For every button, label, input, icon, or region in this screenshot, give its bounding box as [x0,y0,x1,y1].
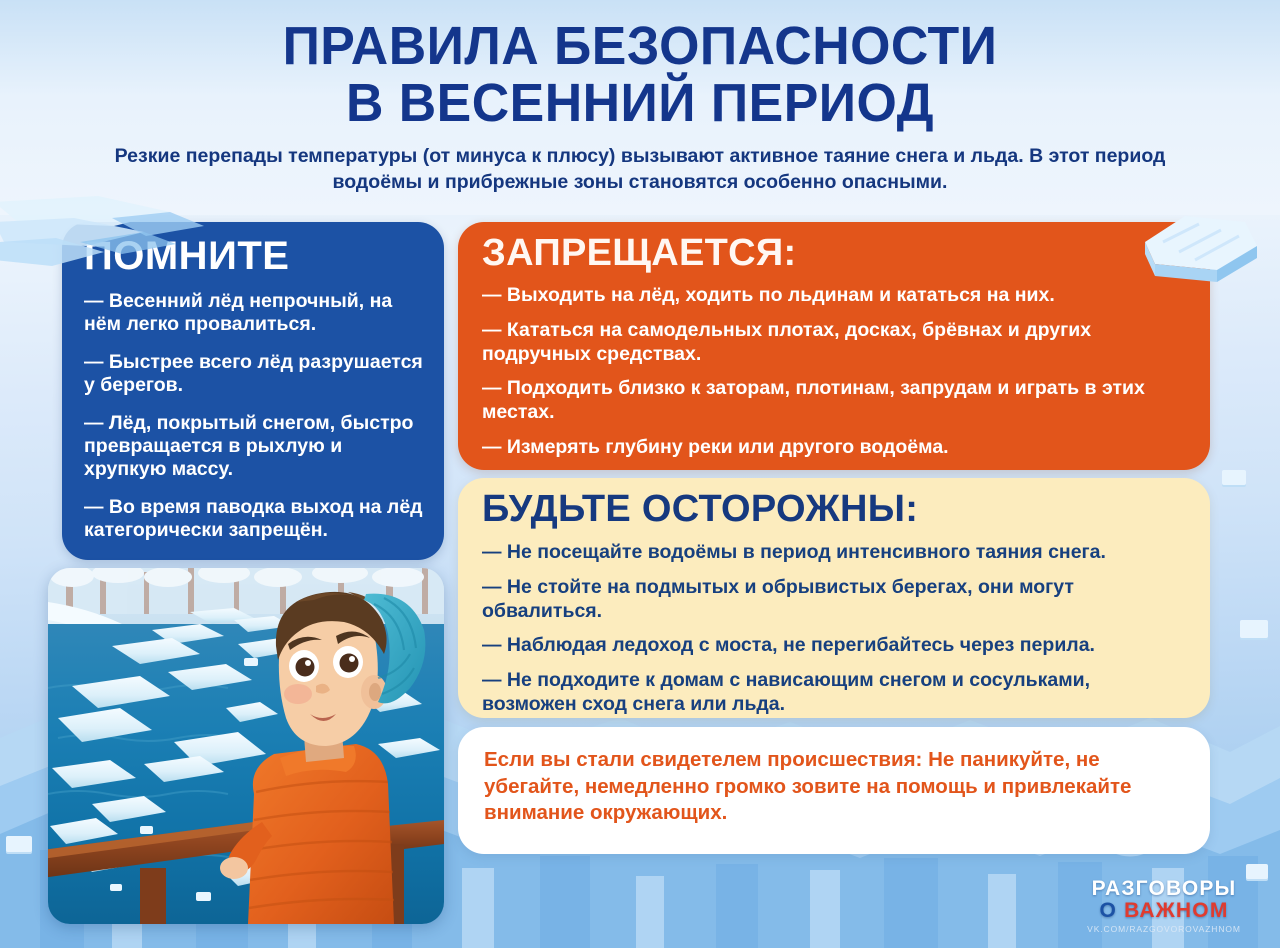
panel-remember-item: — Весенний лёд непрочный, на нём легко п… [84,290,424,337]
panel-remember-item: — Во время паводка выход на лёд категори… [84,496,424,543]
title-line-1: ПРАВИЛА БЕЗОПАСНОСТИ [26,18,1255,75]
panel-witness-text: Если вы стали свидетелем происшествия: Н… [484,747,1186,827]
poster-root: ПРАВИЛА БЕЗОПАСНОСТИ В ВЕСЕННИЙ ПЕРИОД Р… [0,0,1280,948]
panel-witness-notice: Если вы стали свидетелем происшествия: Н… [458,727,1210,854]
page-subtitle: Резкие перепады температуры (от минуса к… [75,144,1205,196]
panel-forbidden: ЗАПРЕЩАЕТСЯ: — Выходить на лёд, ходить п… [458,222,1210,470]
ice-chip [1246,864,1268,879]
panel-be-careful-item: — Не посещайте водоёмы в период интенсив… [482,541,1188,565]
panel-be-careful: БУДЬТЕ ОСТОРОЖНЫ: — Не посещайте водоёмы… [458,478,1210,718]
ice-chip [6,836,32,852]
panel-remember-item: — Быстрее всего лёд разрушается у берего… [84,351,424,398]
panel-forbidden-item: — Кататься на самодельных плотах, досках… [482,319,1188,367]
page-title: ПРАВИЛА БЕЗОПАСНОСТИ В ВЕСЕННИЙ ПЕРИОД [26,18,1255,132]
logo-line-2-rest: ВАЖНОМ [1124,899,1228,922]
panel-forbidden-item: — Выходить на лёд, ходить по льдинам и к… [482,284,1188,308]
panel-be-careful-heading: БУДЬТЕ ОСТОРОЖНЫ: [482,490,1188,528]
ice-chip [1222,470,1246,485]
logo-url: VK.COM/RAZGOVOROVAZHNOM [1070,924,1258,934]
panel-be-careful-item: — Не подходите к домам с нависающим снег… [482,669,1188,717]
panel-forbidden-item: — Подходить близко к заторам, плотинам, … [482,377,1188,425]
logo-line-2-o: О [1099,899,1117,922]
panel-remember: ПОМНИТЕ — Весенний лёд непрочный, на нём… [62,222,444,560]
logo-line-1: РАЗГОВОРЫ [1070,878,1258,899]
logo-line-2: О ВАЖНОМ [1070,900,1258,921]
panel-be-careful-item: — Наблюдая ледоход с моста, не перегибай… [482,634,1188,658]
ice-chip [1240,620,1268,638]
illustration-boy-at-river [48,568,444,924]
logo-razgovory-o-vazhnom[interactable]: РАЗГОВОРЫ О ВАЖНОМ VK.COM/RAZGOVOROVAZHN… [1070,878,1258,934]
panel-remember-heading: ПОМНИТЕ [84,236,424,276]
panel-remember-item: — Лёд, покрытый снегом, быстро превращае… [84,412,424,482]
panel-forbidden-heading: ЗАПРЕЩАЕТСЯ: [482,234,1188,272]
panel-forbidden-item: — Измерять глубину реки или другого водо… [482,436,1188,460]
panel-be-careful-item: — Не стойте на подмытых и обрывистых бер… [482,576,1188,624]
title-line-2: В ВЕСЕННИЙ ПЕРИОД [26,75,1255,132]
